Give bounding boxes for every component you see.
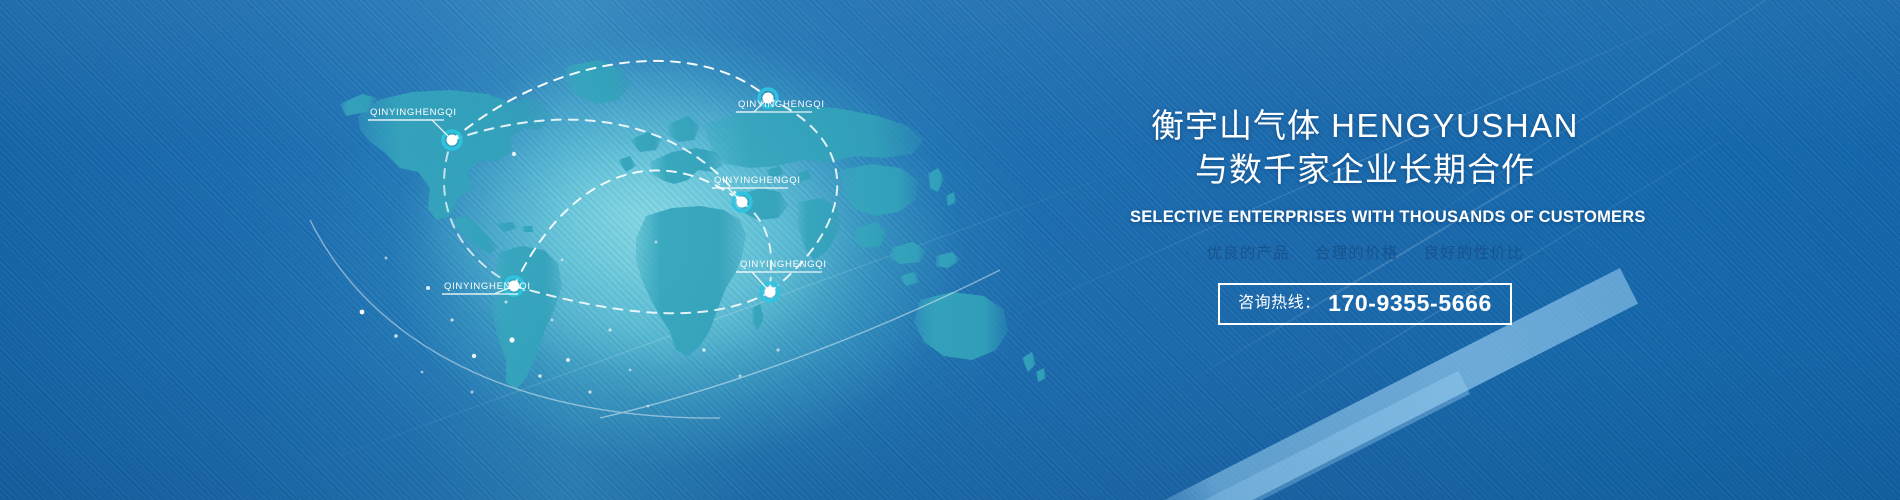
subtitle-chinese: · 优良的产品 合理的价格 良好的性价比 ·: [1130, 241, 1600, 263]
hotline-box[interactable]: 咨询热线： 170-9355-5666: [1218, 283, 1512, 325]
headline-line-1: 衡宇山气体 HENGYUSHAN: [1130, 104, 1600, 148]
subtitle-english: SELECTIVE ENTERPRISES WITH THOUSANDS OF …: [1130, 208, 1600, 227]
world-map-graphic: QINYINGHENGQI QINYINGHENGQI QINYINGHENGQ…: [300, 20, 1060, 420]
banner-text-block: 衡宇山气体 HENGYUSHAN 与数千家企业长期合作 SELECTIVE EN…: [1130, 104, 1600, 325]
hero-banner: QINYINGHENGQI QINYINGHENGQI QINYINGHENGQ…: [0, 0, 1900, 500]
map-label: QINYINGHENGQI: [714, 175, 801, 186]
headline-cn-text: 衡宇山气体: [1151, 107, 1321, 144]
bullet-right: ·: [1539, 245, 1545, 262]
feature-text-1: 优良的产品: [1206, 245, 1290, 262]
feature-text-3: 良好的性价比: [1423, 245, 1523, 262]
hotline-number: 170-9355-5666: [1328, 290, 1492, 316]
map-label: QINYINGHENGQI: [738, 99, 825, 110]
bullet-left: ·: [1184, 245, 1190, 262]
feature-text-2: 合理的价格: [1315, 245, 1399, 262]
map-label: QINYINGHENGQI: [370, 107, 457, 118]
map-label: QINYINGHENGQI: [740, 259, 827, 270]
headline-en-text: HENGYUSHAN: [1331, 107, 1579, 144]
map-label: QINYINGHENGQI: [444, 281, 531, 292]
headline-line-2: 与数千家企业长期合作: [1130, 148, 1600, 192]
hotline-label: 咨询热线：: [1238, 295, 1321, 312]
